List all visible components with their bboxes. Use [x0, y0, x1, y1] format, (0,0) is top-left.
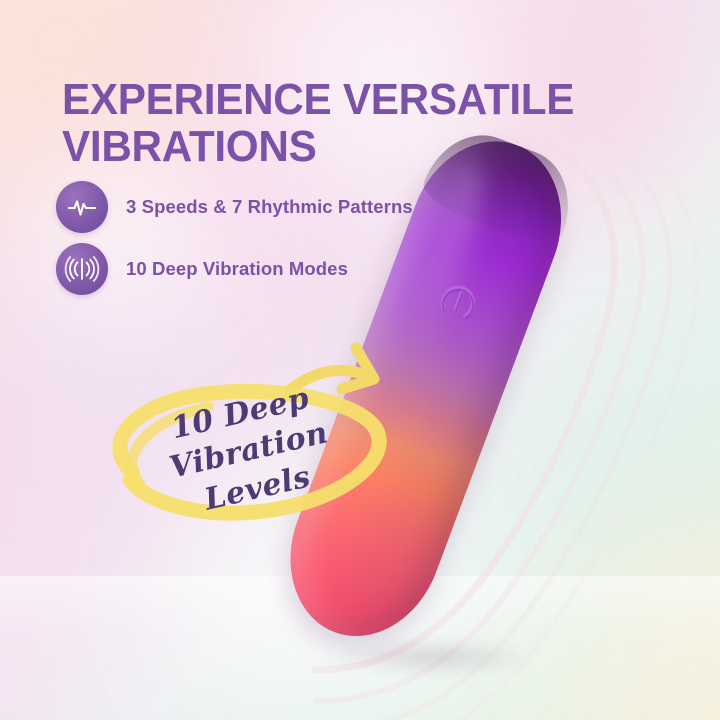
feature-item-speeds: 3 Speeds & 7 Rhythmic Patterns — [56, 178, 476, 236]
callout-badge: 10 Deep Vibration Levels — [96, 380, 396, 525]
pulse-wave-icon — [56, 181, 108, 233]
feature-item-modes: 10 Deep Vibration Modes — [56, 240, 476, 298]
feature-label-speeds: 3 Speeds & 7 Rhythmic Patterns — [126, 196, 413, 218]
product-shadow — [328, 640, 538, 674]
product-feature-graphic: Experience Versatile Vibrations 3 Speeds… — [0, 0, 720, 720]
headline-line-2: Vibrations — [62, 124, 600, 171]
feature-list: 3 Speeds & 7 Rhythmic Patterns 10 Deep — [56, 178, 476, 302]
vibration-waves-icon — [56, 243, 108, 295]
page-title: Experience Versatile Vibrations — [62, 77, 600, 170]
feature-label-modes: 10 Deep Vibration Modes — [126, 258, 348, 280]
headline-line-1: Experience Versatile — [62, 75, 574, 124]
